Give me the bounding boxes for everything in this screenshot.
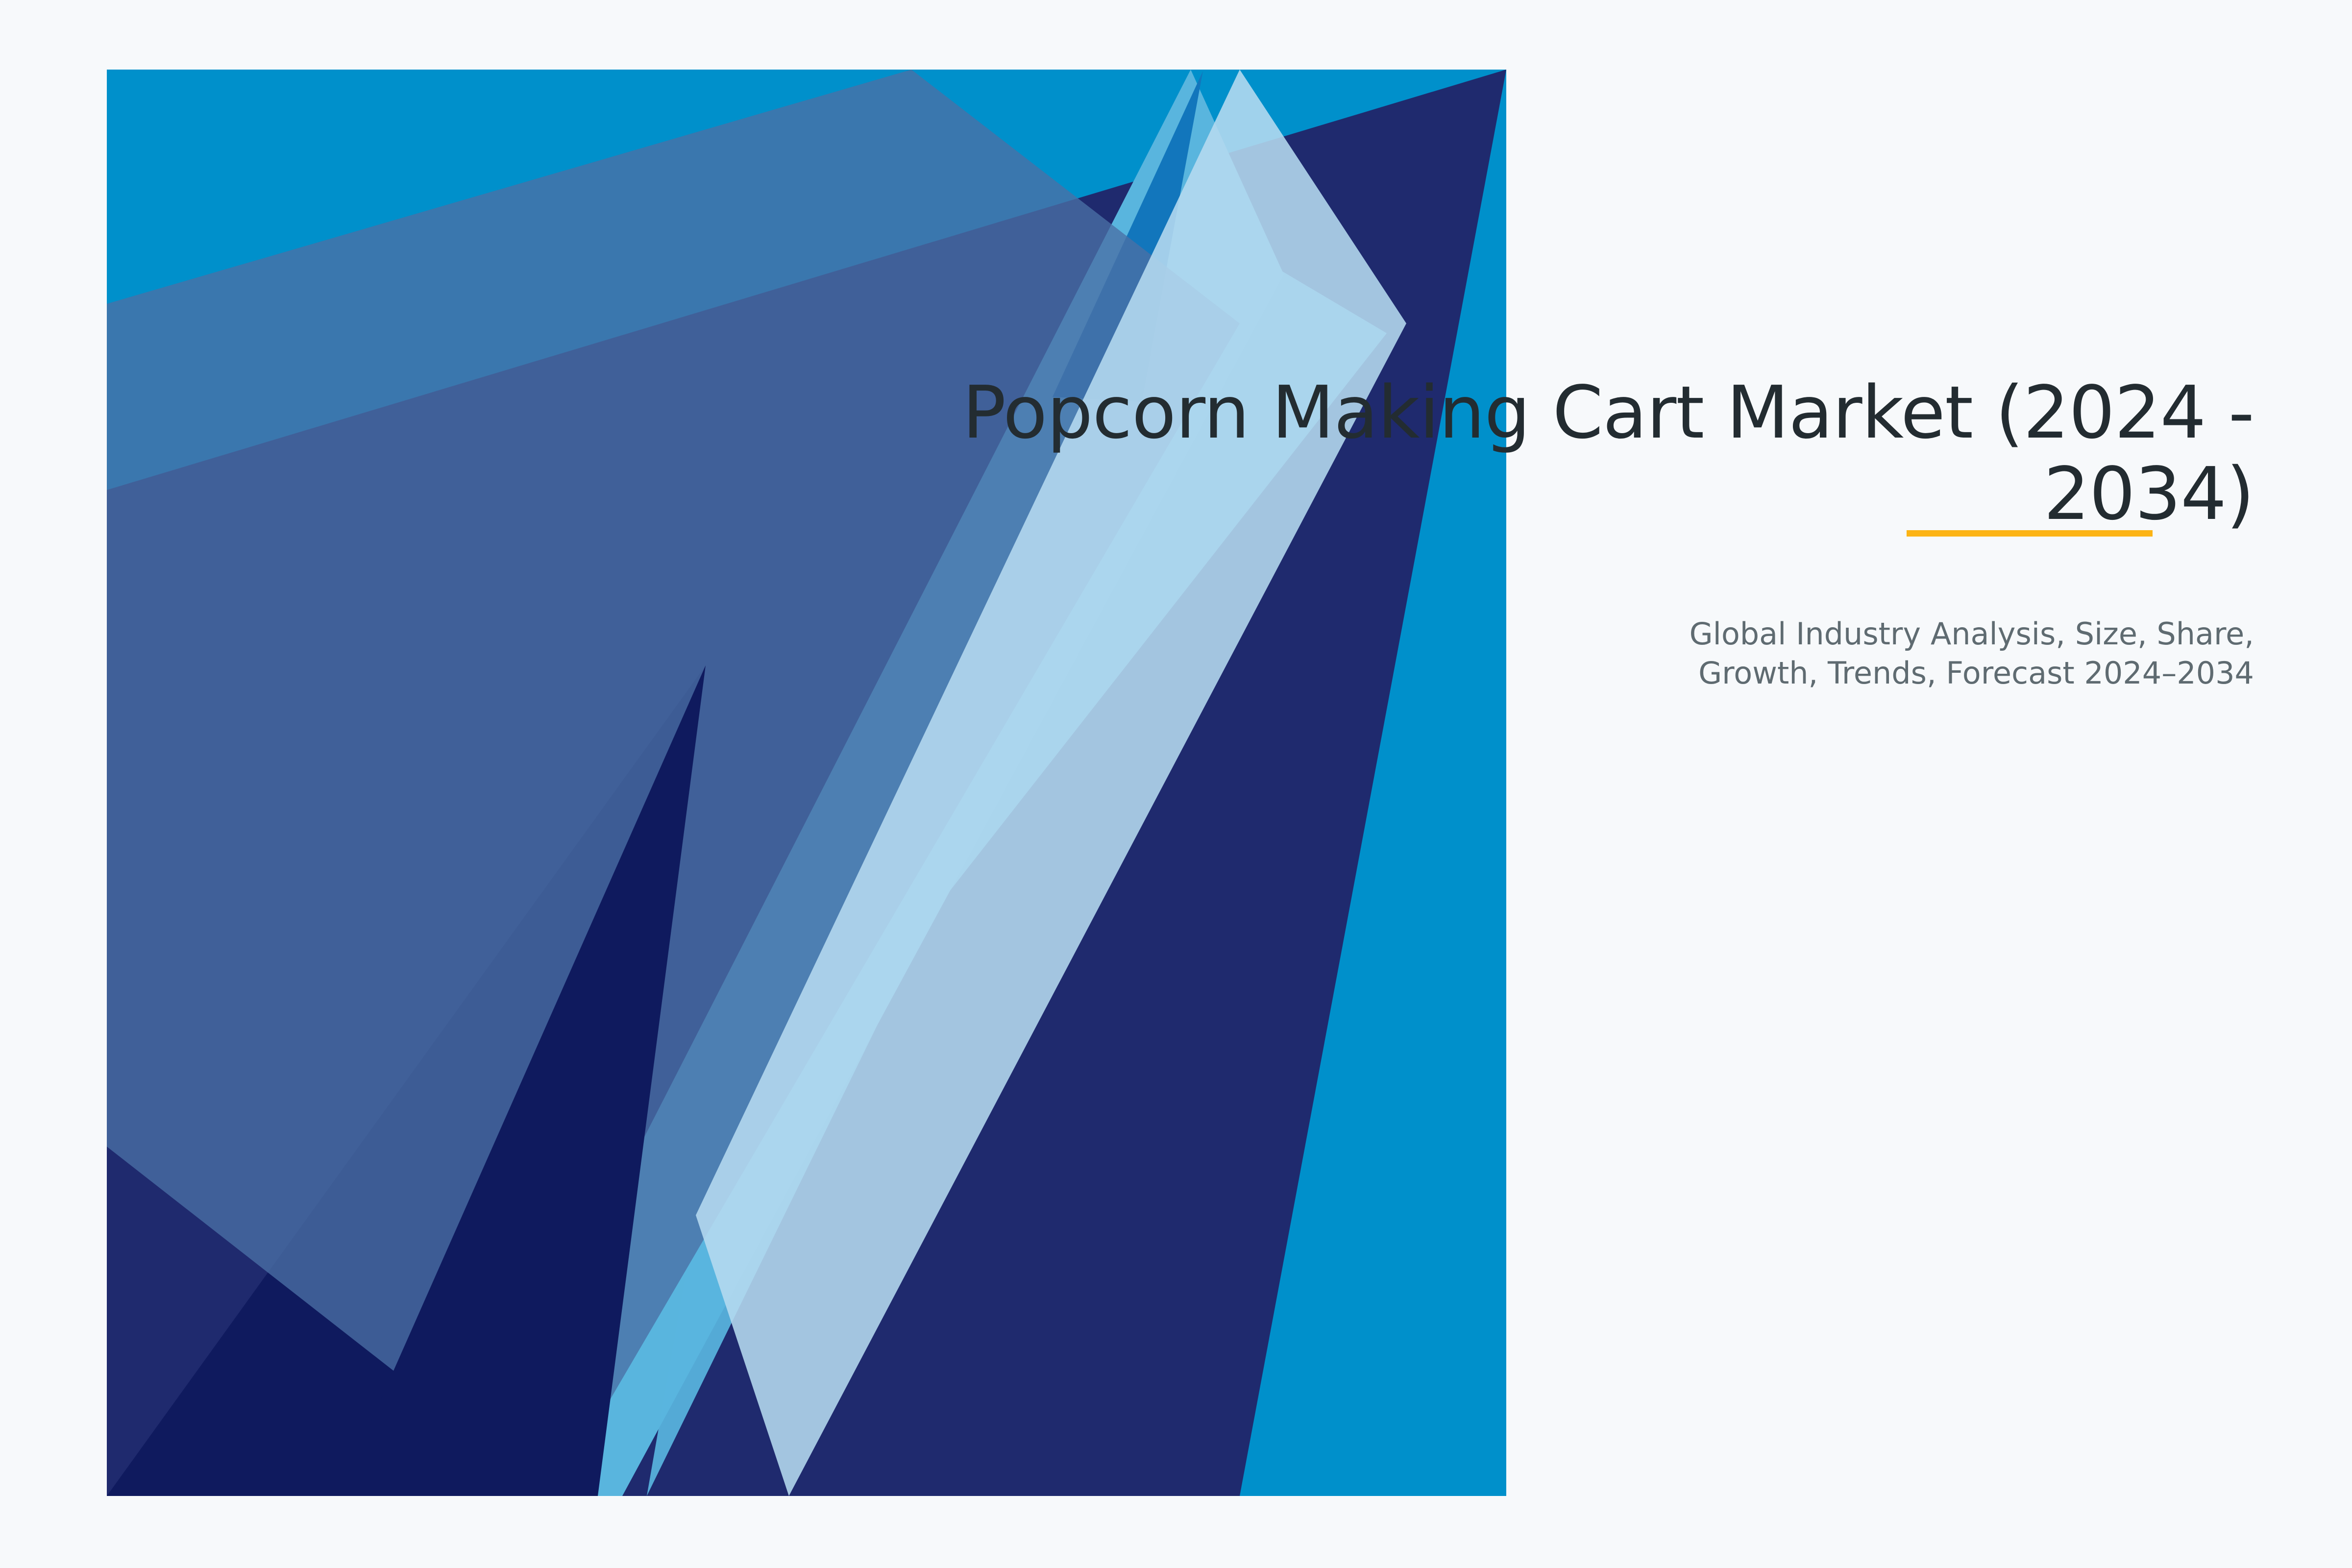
deep-navy-wedge-shape [338, 665, 706, 1496]
navy-band-shape [107, 70, 1506, 1496]
slate-blue-overlay-shape [107, 70, 1240, 1496]
page-title: Popcorn Making Cart Market (2024 - 2034) [882, 372, 2254, 535]
deep-navy-wedge-shape [107, 665, 706, 1496]
abstract-polygon-artwork [0, 0, 2352, 1568]
pale-blue-overlay-shape [696, 70, 1406, 1496]
ocean-blue-spike-shape [1053, 71, 1203, 402]
azure-field-shape [107, 70, 1508, 1498]
page-subtitle: Global Industry Analysis, Size, Share, G… [1637, 614, 2254, 693]
title-text-block: Popcorn Making Cart Market (2024 - 2034)… [882, 372, 2254, 693]
title-text-wrap: Popcorn Making Cart Market (2024 - 2034) [882, 372, 2254, 535]
sky-blue-ribbon-shape [461, 70, 1284, 1496]
title-underline-accent [1907, 530, 2153, 537]
artwork-canvas [0, 0, 2352, 1568]
title-slide: Popcorn Making Cart Market (2024 - 2034)… [0, 0, 2352, 1568]
page-title-text: Popcorn Making Cart Market (2024 - 2034) [962, 370, 2254, 536]
